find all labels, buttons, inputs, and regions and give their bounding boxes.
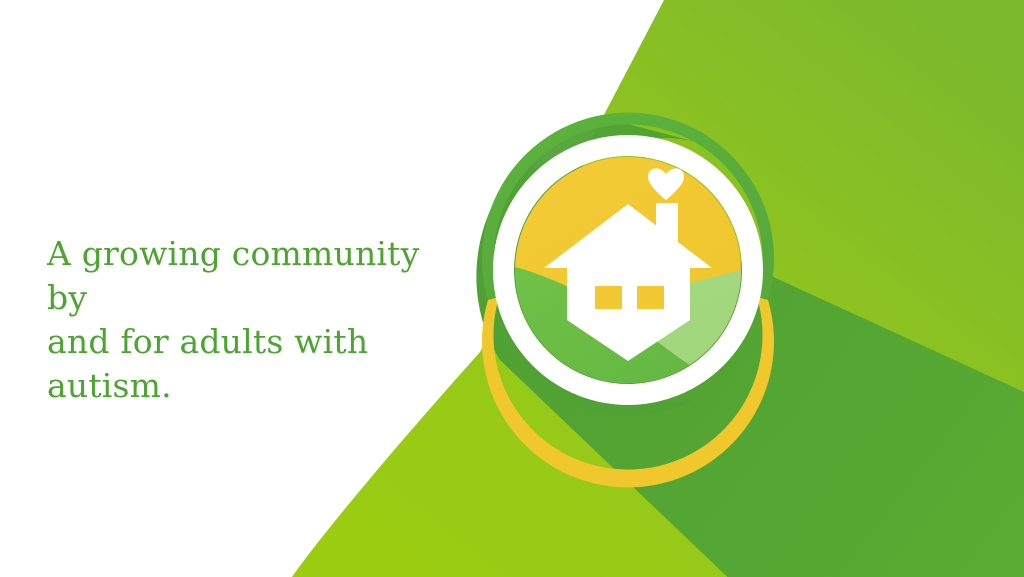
headline-text: A growing community by and for adults wi… <box>47 232 467 408</box>
banner-canvas: A growing community by and for adults wi… <box>0 0 1024 577</box>
window-right <box>637 286 664 309</box>
window-left <box>595 286 622 309</box>
